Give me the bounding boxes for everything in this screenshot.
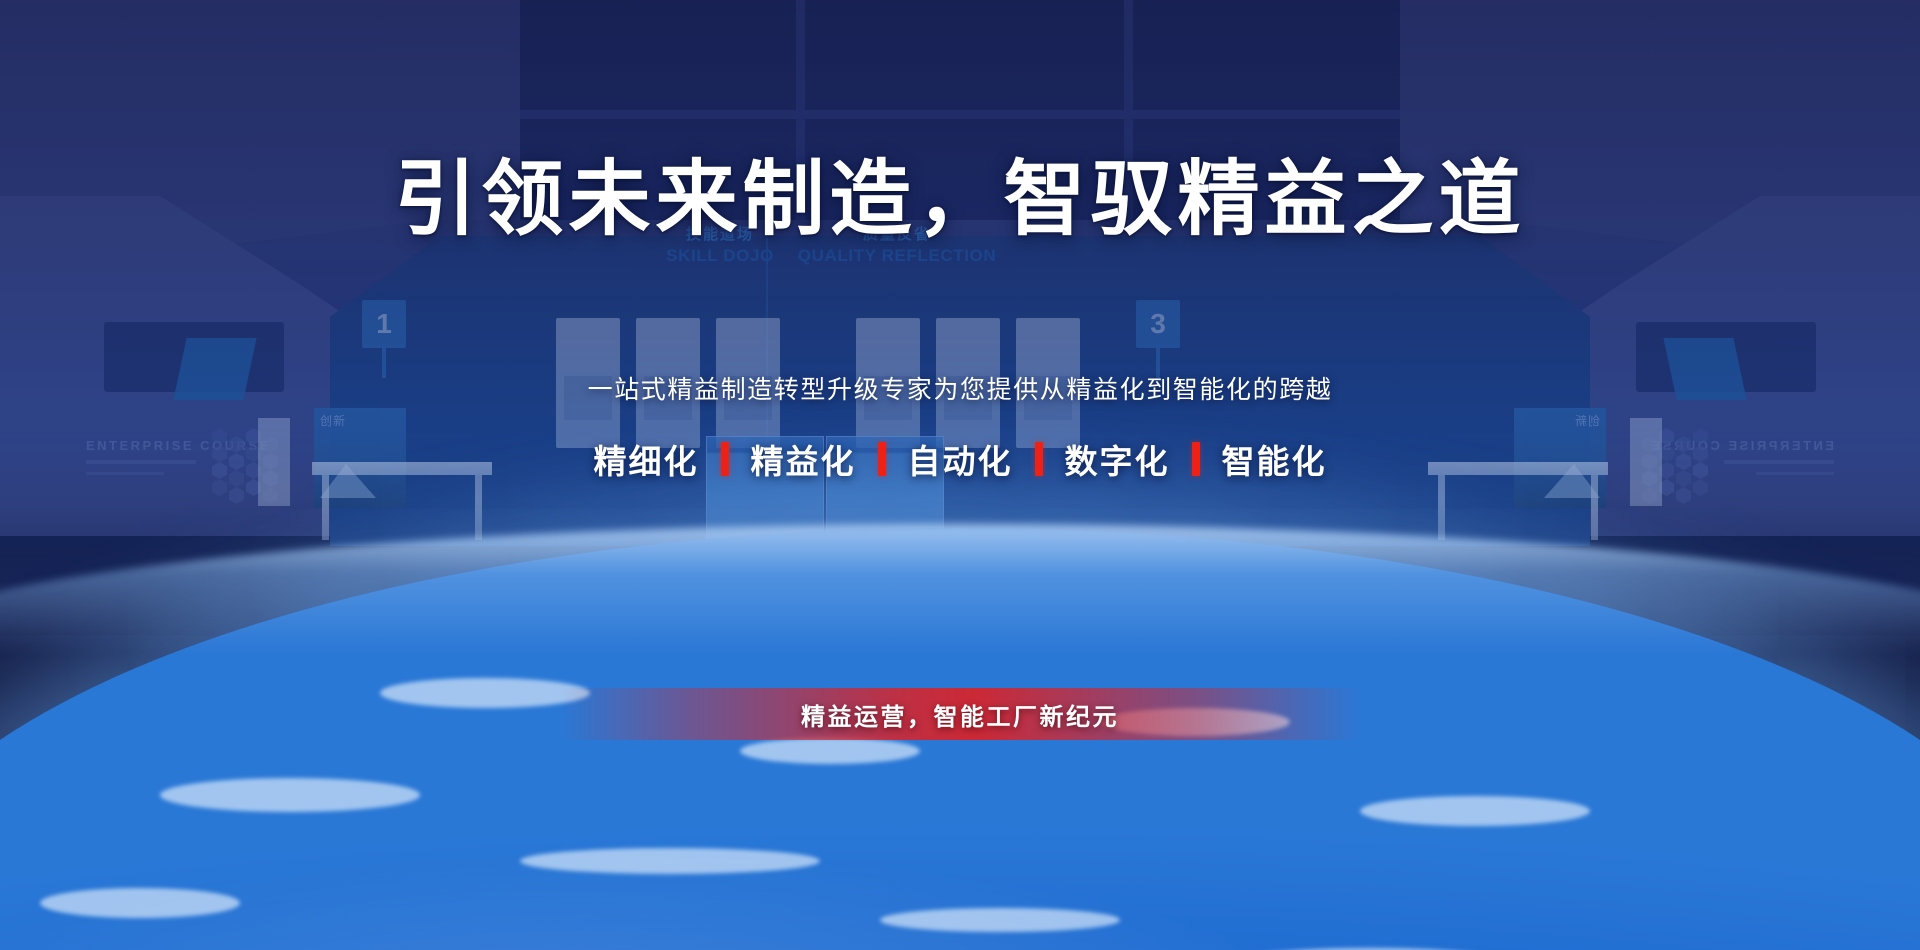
keyword-item: 精细化 — [572, 435, 721, 483]
banner-content: 引领未来制造，智驭精益之道 一站式精益制造转型升级专家为您提供从精益化到智能化的… — [0, 0, 1920, 950]
keyword-separator-bar — [878, 442, 886, 476]
tagline-ribbon: 精益运营，智能工厂新纪元 — [560, 688, 1360, 740]
keyword-separator-bar — [1192, 442, 1200, 476]
keyword-list: 精细化 精益化 自动化 数字化 智能化 — [0, 435, 1920, 483]
promo-banner: ENTERPRISE COURSE 创新 ENTERPRISE COURSE 创… — [0, 0, 1920, 950]
banner-headline: 引领未来制造，智驭精益之道 — [0, 132, 1920, 251]
banner-subheadline: 一站式精益制造转型升级专家为您提供从精益化到智能化的跨越 — [0, 370, 1920, 406]
keyword-item: 智能化 — [1200, 435, 1349, 483]
keyword-separator-bar — [721, 442, 729, 476]
keyword-separator-bar — [1035, 442, 1043, 476]
keyword-item: 数字化 — [1043, 435, 1192, 483]
keyword-item: 自动化 — [886, 435, 1035, 483]
tagline-text: 精益运营，智能工厂新纪元 — [801, 697, 1119, 732]
keyword-item: 精益化 — [729, 435, 878, 483]
